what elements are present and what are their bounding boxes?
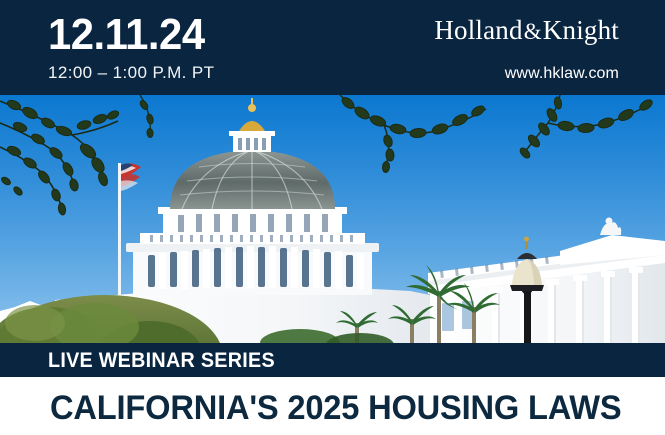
event-datetime-block: 12.11.24 12:00 – 1:00 P.M. PT xyxy=(48,12,214,84)
brand-block: Holland&Knight www.hklaw.com xyxy=(434,14,619,84)
webinar-series-label: LIVE WEBINAR SERIES xyxy=(48,349,275,372)
brand-website-url[interactable]: www.hklaw.com xyxy=(434,64,619,84)
title-area: CALIFORNIA'S 2025 HOUSING LAWS xyxy=(0,377,665,435)
webinar-promo-poster: 12.11.24 12:00 – 1:00 P.M. PT Holland&Kn… xyxy=(0,0,665,435)
capitol-photo-illustration xyxy=(0,95,665,345)
event-date: 12.11.24 xyxy=(48,12,206,58)
capitol-photo xyxy=(0,95,665,345)
event-time: 12:00 – 1:00 P.M. PT xyxy=(48,62,214,84)
webinar-series-banner: LIVE WEBINAR SERIES xyxy=(0,343,665,377)
poster-header: 12.11.24 12:00 – 1:00 P.M. PT Holland&Kn… xyxy=(0,0,665,95)
brand-logo: Holland&Knight xyxy=(434,14,619,48)
brand-name-part2: Knight xyxy=(543,15,619,45)
webinar-title: CALIFORNIA'S 2025 HOUSING LAWS xyxy=(50,389,621,427)
brand-name-part1: Holland xyxy=(434,15,522,45)
brand-ampersand: & xyxy=(523,19,543,44)
